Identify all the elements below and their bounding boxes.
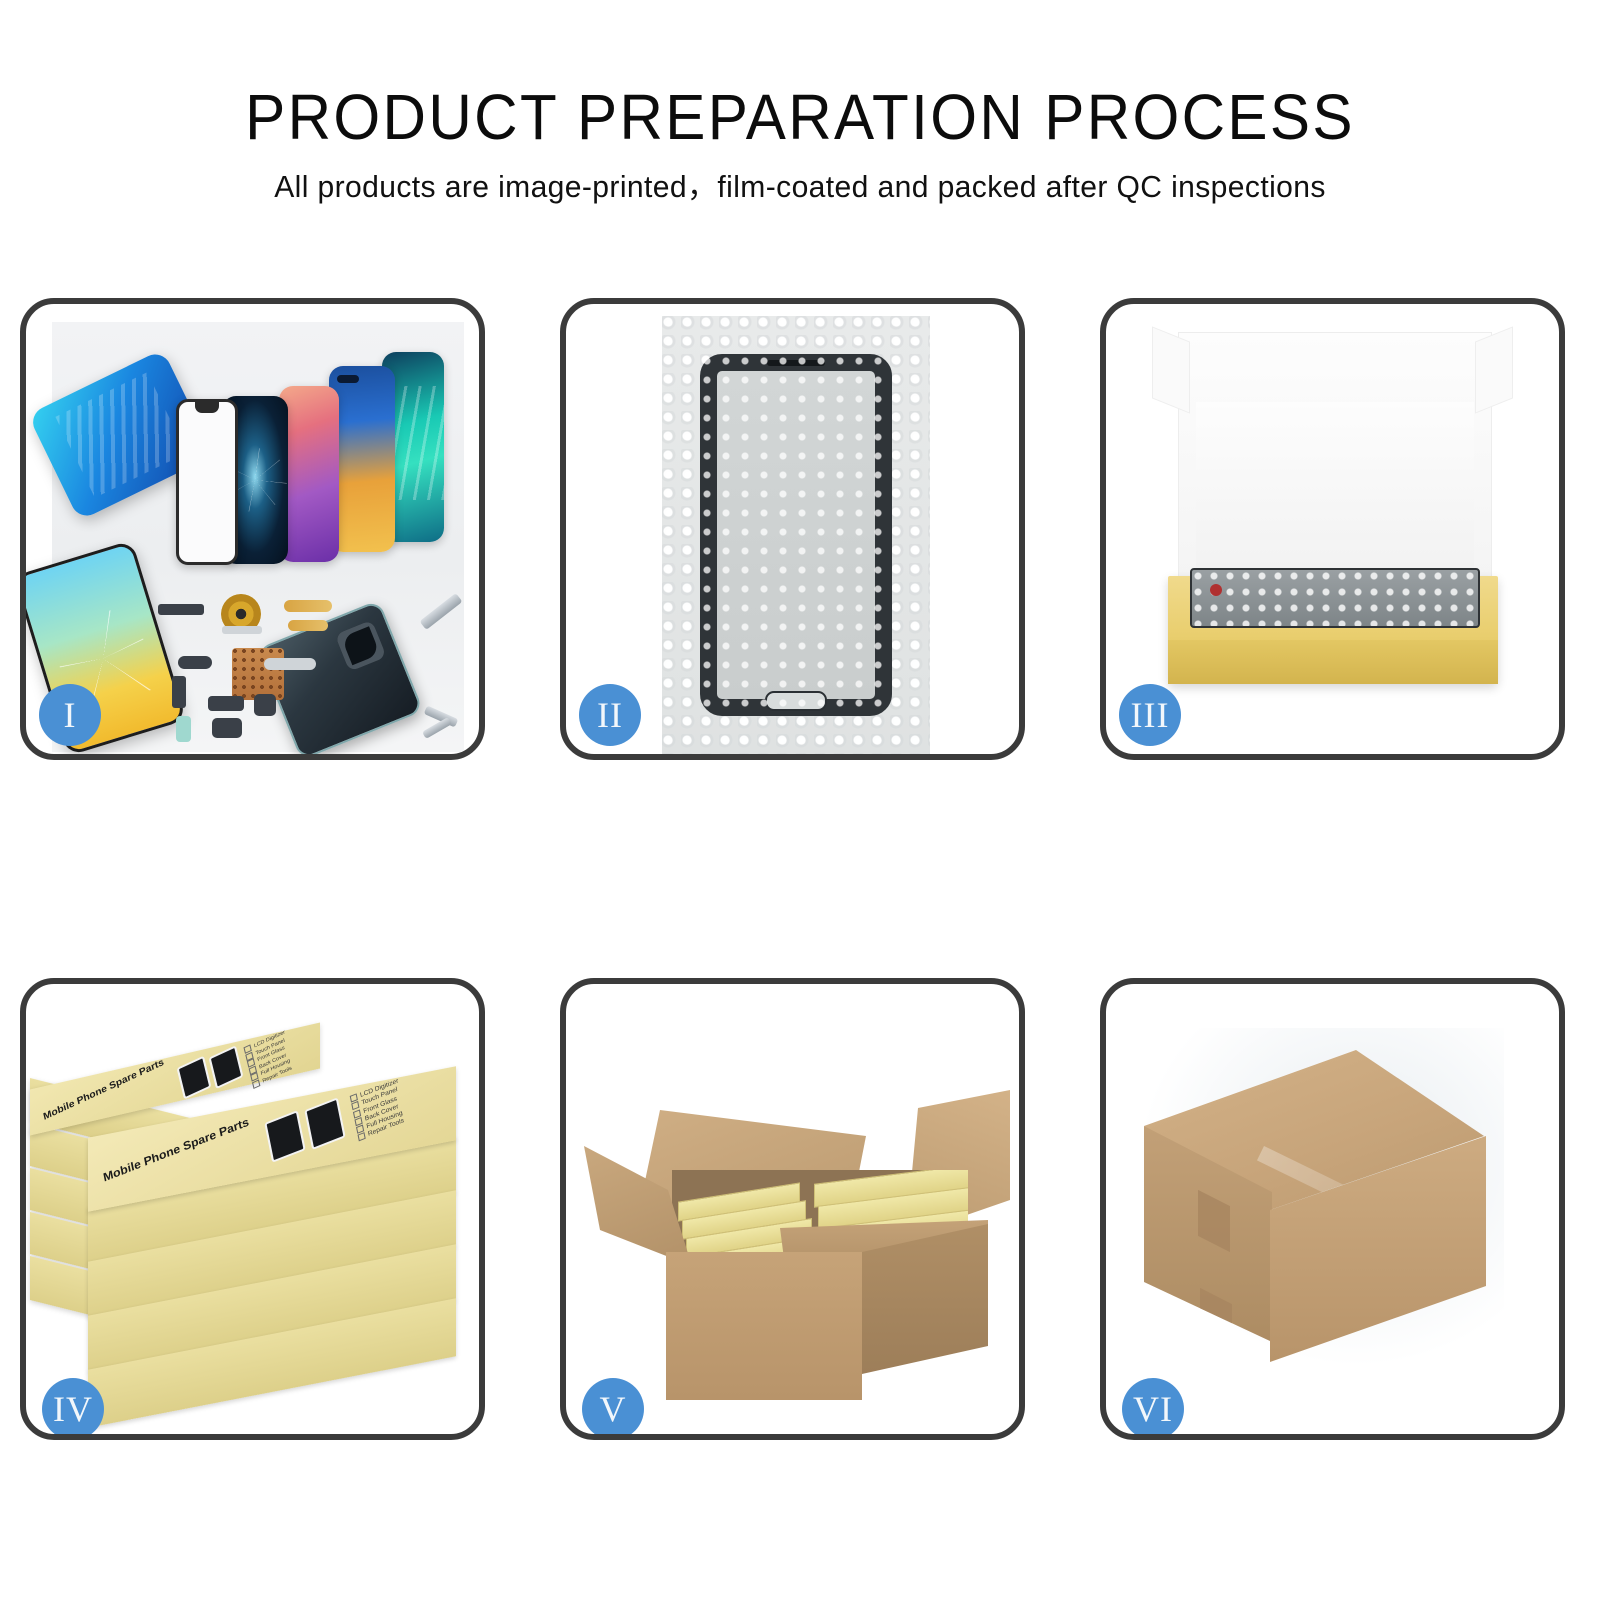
box-screen-image-rear-1	[177, 1056, 212, 1100]
red-connector-icon	[1210, 584, 1222, 596]
flex-cable-icon	[284, 600, 332, 612]
ic-chip-icon	[232, 648, 284, 700]
camera-module-icon	[254, 694, 276, 716]
wrapped-screen-in-box-icon	[1190, 568, 1480, 628]
step-badge-1: I	[39, 684, 101, 746]
front-glass-panel-icon	[176, 399, 238, 565]
process-panel-grid: I II III	[0, 0, 1600, 1600]
lid-left-flap-icon	[1152, 326, 1190, 413]
step-badge-5: V	[582, 1378, 644, 1440]
sealed-carton-image	[1106, 984, 1559, 1434]
vibrator-module-icon	[208, 696, 244, 711]
step-badge-3: III	[1119, 684, 1181, 746]
bubble-gloss-overlay	[662, 316, 930, 754]
step-badge-6: VI	[1122, 1378, 1184, 1440]
volume-flex-icon	[172, 676, 186, 708]
box-checklist-rear: LCD Digitizer Touch Panel Front Glass Ba…	[243, 1029, 294, 1089]
yellow-box-tray-icon	[1168, 576, 1498, 684]
carton-front-face-icon	[666, 1252, 862, 1400]
lid-right-flap-icon	[1475, 326, 1513, 413]
process-panel-6[interactable]: VI	[1100, 978, 1565, 1440]
flex-cable-2-icon	[288, 620, 328, 631]
box-front-panel-icon	[1168, 640, 1498, 684]
process-panel-2[interactable]: II	[560, 298, 1025, 760]
process-panel-4[interactable]: Mobile Phone Spare Parts LCD Digitizer T…	[20, 978, 485, 1440]
speaker-mesh-icon	[158, 604, 204, 615]
sim-tray-icon	[176, 716, 191, 742]
foam-padding-icon	[1196, 402, 1474, 588]
power-flex-icon	[264, 658, 316, 670]
process-panel-5[interactable]: V	[560, 978, 1025, 1440]
box-checklist-front: LCD Digitizer Touch Panel Front Glass Ba…	[350, 1077, 407, 1143]
box-screen-image-front-2	[304, 1097, 345, 1150]
bubble-wrap-sheet-icon	[662, 316, 930, 754]
step-badge-4: IV	[42, 1378, 104, 1440]
taptic-engine-icon	[212, 718, 242, 738]
mailer-box-image	[1106, 304, 1559, 754]
step-badge-2: II	[579, 684, 641, 746]
stacked-boxes-image: Mobile Phone Spare Parts LCD Digitizer T…	[26, 984, 479, 1434]
phone-parts-image	[26, 304, 479, 754]
phone-purple-icon	[279, 386, 339, 562]
process-panel-1[interactable]: I	[20, 298, 485, 760]
open-carton-image	[566, 984, 1019, 1434]
antenna-strip-icon	[222, 626, 262, 634]
bubble-wrapped-screen-image	[566, 304, 1019, 754]
process-panel-3[interactable]: III	[1100, 298, 1565, 760]
box-screen-image-front-1	[264, 1110, 305, 1163]
button-flex-icon	[178, 656, 212, 669]
box-screen-image-rear-2	[209, 1045, 244, 1089]
tape-patch-upper-icon	[1198, 1190, 1230, 1252]
